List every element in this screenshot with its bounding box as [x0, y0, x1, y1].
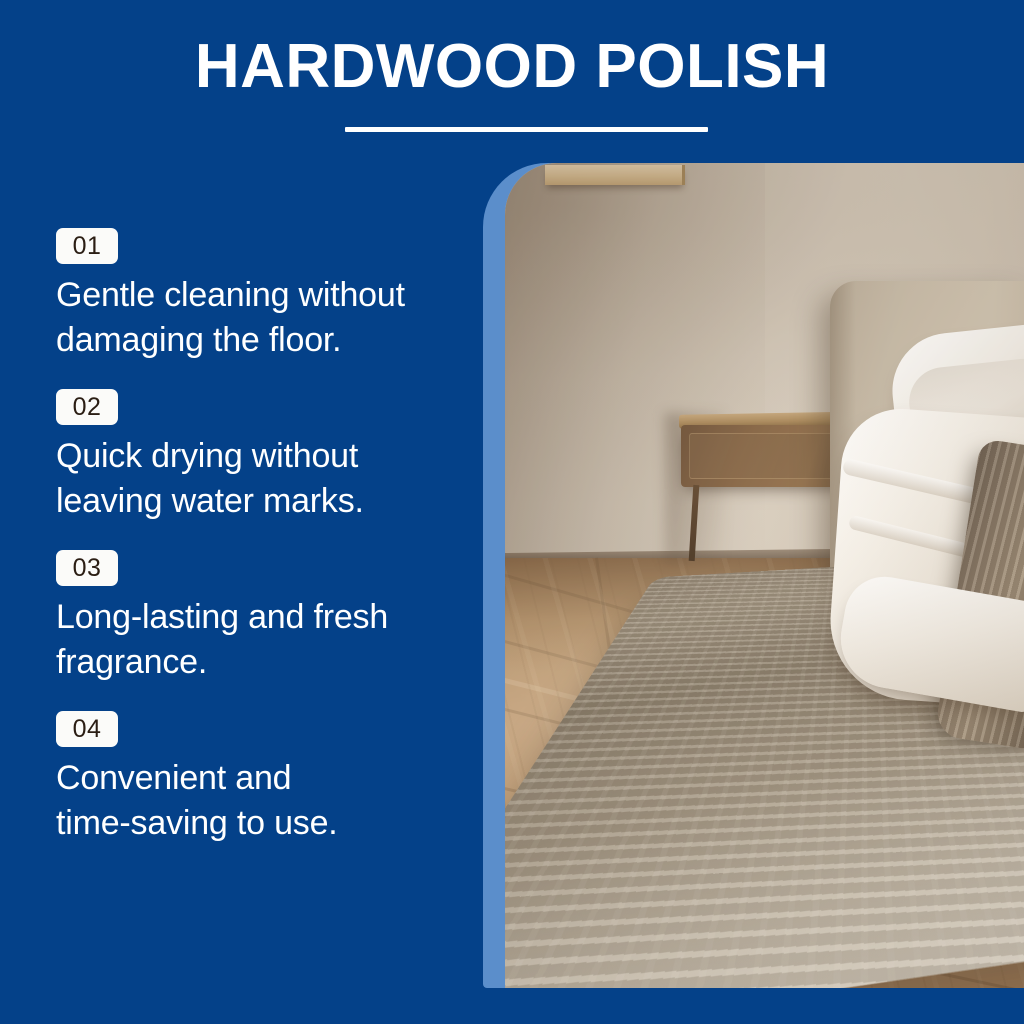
feature-number-badge: 03: [56, 550, 118, 586]
bedroom-photo: [505, 163, 1024, 988]
poster-canvas: HARDWOOD POLISH 01 Gentle cleaning witho…: [0, 0, 1024, 1024]
feature-text: Gentle cleaning without damaging the flo…: [56, 273, 466, 363]
list-item: 01 Gentle cleaning without damaging the …: [56, 228, 466, 363]
list-item: 04 Convenient and time-saving to use.: [56, 711, 466, 846]
feature-text: Quick drying without leaving water marks…: [56, 434, 466, 524]
wall-shadow: [505, 163, 765, 583]
feature-text: Convenient and time-saving to use.: [56, 756, 466, 846]
feature-text: Long-lasting and fresh fragrance.: [56, 595, 466, 685]
list-item: 02 Quick drying without leaving water ma…: [56, 389, 466, 524]
page-title: HARDWOOD POLISH: [0, 34, 1024, 99]
feature-number-badge: 04: [56, 711, 118, 747]
feature-list: 01 Gentle cleaning without damaging the …: [56, 228, 466, 846]
title-divider: [345, 127, 708, 132]
list-item: 03 Long-lasting and fresh fragrance.: [56, 550, 466, 685]
feature-number-badge: 01: [56, 228, 118, 264]
feature-number-badge: 02: [56, 389, 118, 425]
wooden-shelf-edge: [545, 165, 685, 185]
